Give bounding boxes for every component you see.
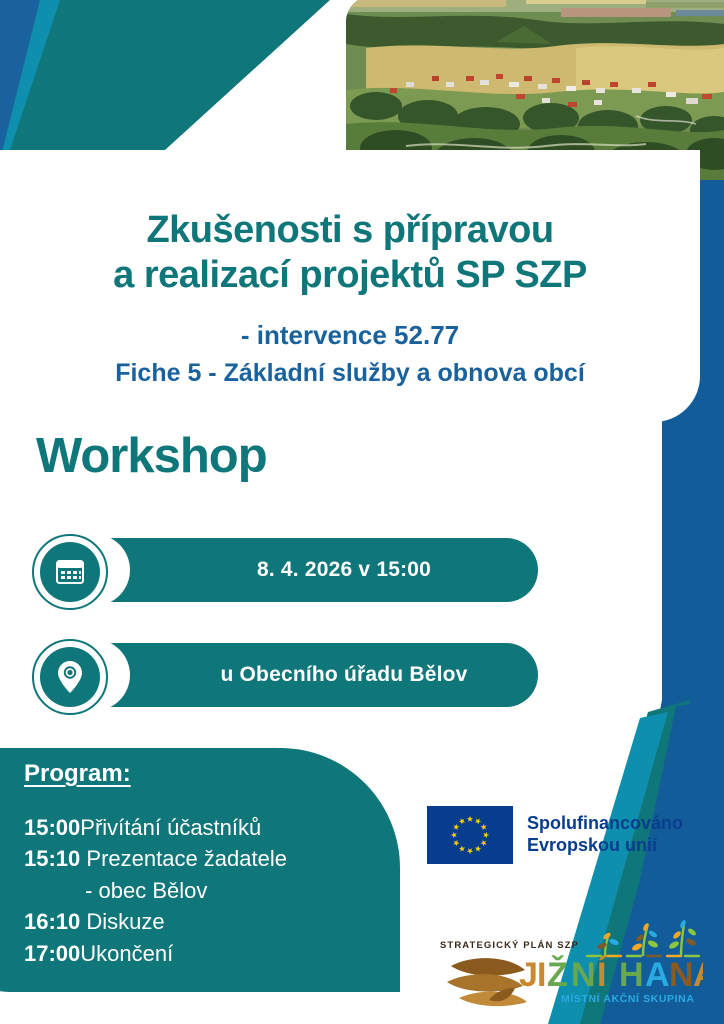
location-pin-icon-ring xyxy=(32,639,108,715)
eu-text-line-2: Evropskou unií xyxy=(527,835,683,857)
program-item-text: Prezentace žadatele xyxy=(80,846,287,871)
program-item-text: Diskuze xyxy=(80,909,164,934)
page-subtitle: - intervence 52.77 Fiche 5 - Základní sl… xyxy=(0,317,700,391)
program-item: 15:10 Prezentace žadatele xyxy=(24,843,354,874)
page-title: Zkušenosti s přípravou a realizací proje… xyxy=(0,208,700,298)
mas-tagline: MÍSTNÍ AKČNÍ SKUPINA xyxy=(561,992,695,1005)
eu-cofunding-logo: Spolufinancováno Evropskou unií xyxy=(427,806,683,864)
svg-text:A: A xyxy=(645,956,669,994)
subtitle-line-2: Fiche 5 - Základní služby a obnova obcí xyxy=(0,355,700,391)
leaves-mark xyxy=(447,958,527,1006)
program-item-text: Přivítání účastníků xyxy=(80,815,261,840)
date-text: 8. 4. 2026 v 15:00 xyxy=(185,558,431,582)
eu-flag-icon xyxy=(427,806,513,864)
svg-text:I: I xyxy=(537,956,546,994)
program-item-text: - obec Bělov xyxy=(24,878,207,903)
program-heading: Program: xyxy=(24,760,131,788)
svg-text:Í: Í xyxy=(597,956,608,994)
calendar-icon xyxy=(40,542,100,602)
program-item: - obec Bělov xyxy=(24,875,354,906)
program-item-time: 15:00 xyxy=(24,815,80,840)
svg-text:Á: Á xyxy=(693,956,703,994)
svg-text:J: J xyxy=(519,956,537,994)
svg-text:H: H xyxy=(619,956,643,994)
location-pill: u Obecního úřadu Bělov xyxy=(78,643,538,707)
svg-text:Ž: Ž xyxy=(547,956,567,994)
event-type-heading: Workshop xyxy=(36,428,267,484)
program-item: 17:00Ukončení xyxy=(24,938,354,969)
program-item-text: Ukončení xyxy=(80,941,173,966)
program-item: 15:00Přivítání účastníků xyxy=(24,812,354,843)
subtitle-line-1: - intervence 52.77 xyxy=(241,320,459,350)
program-list: 15:00Přivítání účastníků 15:10 Prezentac… xyxy=(24,812,354,969)
eu-cofunding-text: Spolufinancováno Evropskou unií xyxy=(527,813,683,857)
poster: Zkušenosti s přípravou a realizací proje… xyxy=(0,0,724,1024)
svg-text:N: N xyxy=(571,956,595,994)
mas-jizni-hana-logo: J I Ž N Í H A N Á MÍSTNÍ AKČNÍ SKUPINA xyxy=(443,944,703,1016)
program-item: 16:10 Diskuze xyxy=(24,906,354,937)
program-item-time: 17:00 xyxy=(24,941,80,966)
program-item-time: 15:10 xyxy=(24,846,80,871)
date-pill: 8. 4. 2026 v 15:00 xyxy=(78,538,538,602)
location-pin-icon xyxy=(40,647,100,707)
title-line-2: a realizací projektů SP SZP xyxy=(0,253,700,298)
title-line-1: Zkušenosti s přípravou xyxy=(146,209,553,251)
program-item-time: 16:10 xyxy=(24,909,80,934)
eu-text-line-1: Spolufinancováno xyxy=(527,813,683,835)
svg-text:N: N xyxy=(669,956,693,994)
calendar-icon-ring xyxy=(32,534,108,610)
location-text: u Obecního úřadu Bělov xyxy=(148,663,467,687)
